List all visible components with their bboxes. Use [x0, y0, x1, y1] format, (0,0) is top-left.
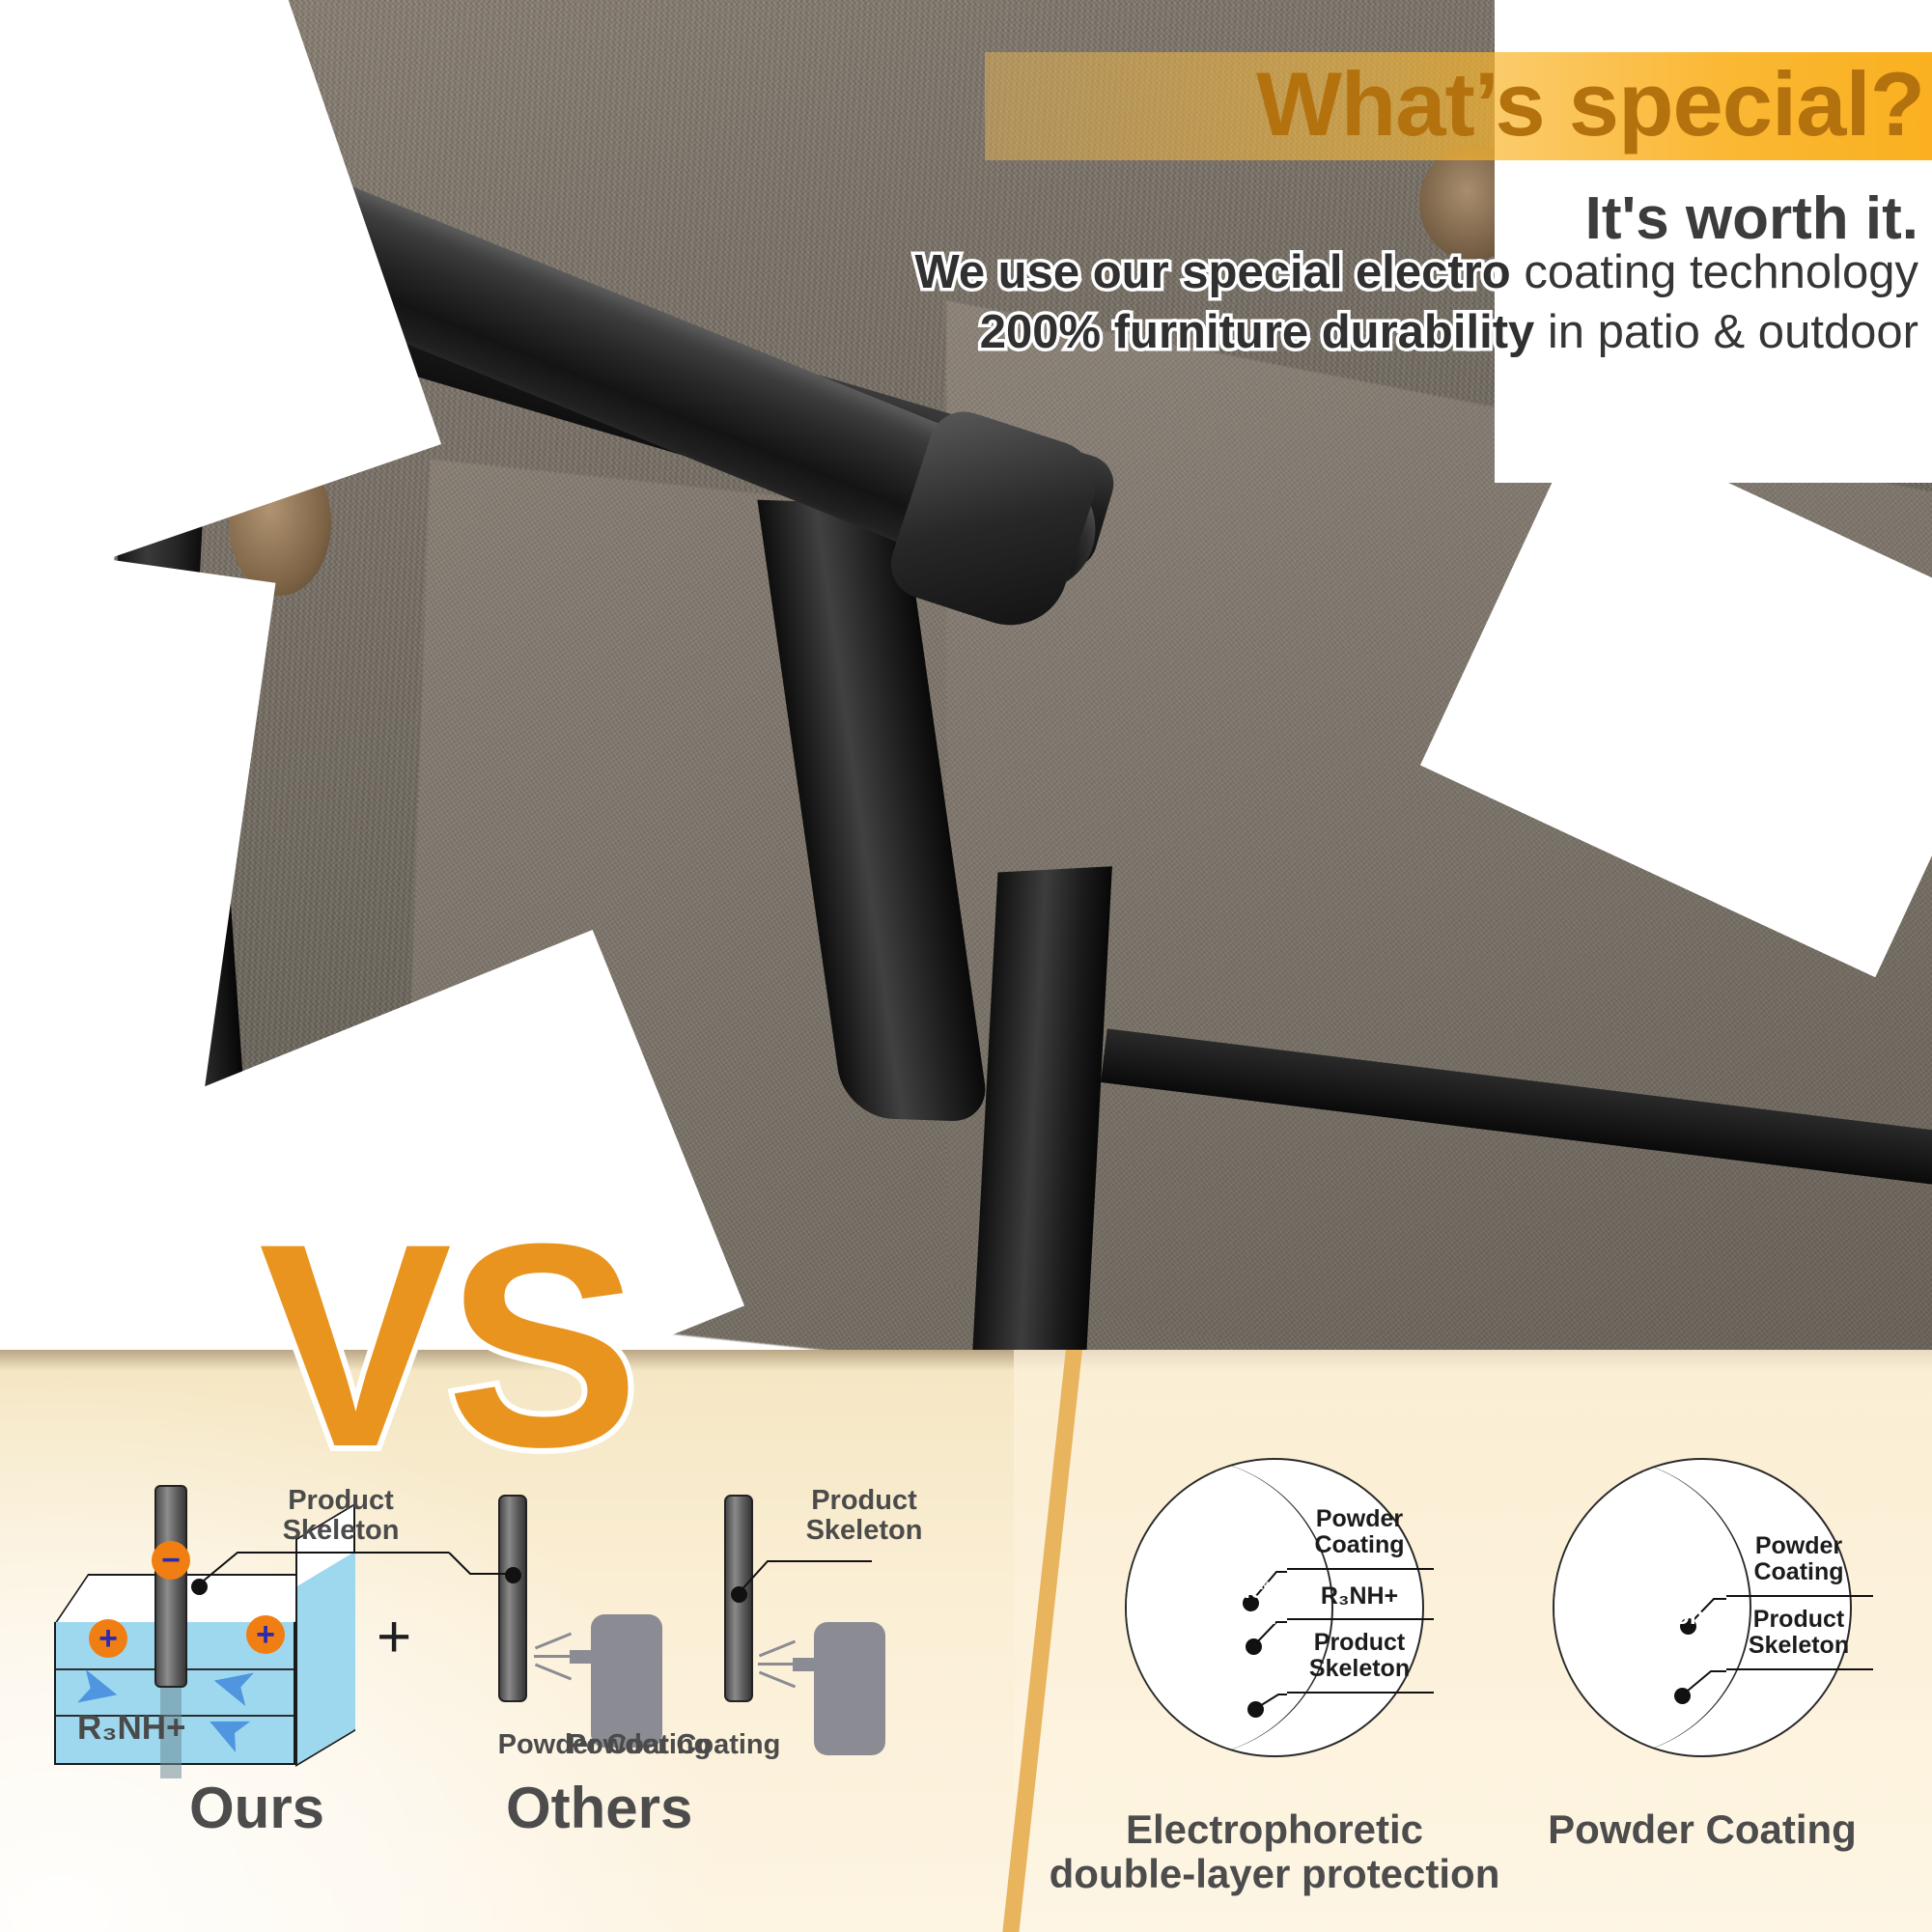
ep-callout-rule-2 — [1287, 1618, 1434, 1620]
vs-label: VS — [259, 1200, 633, 1490]
pc-callout-rule-2 — [1726, 1668, 1873, 1670]
pc-callout-rule-1 — [1726, 1595, 1873, 1597]
ep-callout-3: Product Skeleton — [1282, 1630, 1437, 1681]
pc-leader-lines — [0, 0, 1932, 1932]
ep-callout-rule-3 — [1287, 1692, 1434, 1694]
ep-callout-2: R₃NH+ — [1282, 1583, 1437, 1610]
pc-callout-1: Powder Coating — [1722, 1533, 1876, 1584]
pc-caption: Powder Coating — [1495, 1807, 1910, 1852]
ep-callout-rule-1 — [1287, 1568, 1434, 1570]
pc-core-label: Product Skeleton — [1572, 1578, 1736, 1630]
ep-callout-1: Powder Coating — [1282, 1506, 1437, 1557]
pc-anchor-dot-2 — [1674, 1688, 1691, 1704]
ep-caption: Electrophoretic double-layer protection — [1048, 1807, 1501, 1896]
infographic-root: What’s special? It's worth it. We use ou… — [0, 0, 1932, 1932]
pc-callout-2: Product Skeleton — [1722, 1607, 1876, 1658]
